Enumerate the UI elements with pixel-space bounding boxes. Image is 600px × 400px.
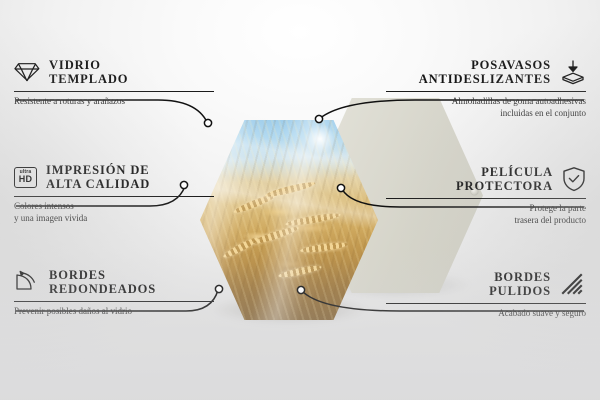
- feature-divider: [386, 198, 586, 199]
- ultra-hd-icon: ultra HD: [14, 167, 37, 188]
- feature-header: PELÍCULA PROTECTORA: [386, 165, 586, 193]
- press-pad-icon: [560, 59, 586, 85]
- feature-divider: [14, 91, 214, 92]
- feature-bordes-pulidos: BORDES PULIDOS Acabado suave y seguro: [386, 270, 586, 320]
- feature-bordes-redondeados: BORDES REDONDEADOS Prevenir posibles dañ…: [14, 268, 214, 318]
- feature-subtitle: Almohadillas de goma autoadhesivas inclu…: [386, 96, 586, 119]
- diagonal-hatch-icon: [560, 272, 586, 296]
- feature-impresion-alta-calidad: ultra HD IMPRESIÓN DE ALTA CALIDAD Color…: [14, 163, 214, 224]
- feature-divider: [14, 196, 214, 197]
- feature-posavasos-antideslizantes: POSAVASOS ANTIDESLIZANTES Almohadillas d…: [386, 58, 586, 119]
- feature-subtitle: Protege la parte trasera del producto: [386, 203, 586, 226]
- feature-header: BORDES PULIDOS: [386, 270, 586, 298]
- ultra-hd-icon-hd-text: HD: [19, 175, 33, 184]
- feature-subtitle: Acabado suave y seguro: [386, 308, 586, 320]
- feature-header: POSAVASOS ANTIDESLIZANTES: [386, 58, 586, 86]
- feature-title: IMPRESIÓN DE ALTA CALIDAD: [46, 163, 150, 191]
- feature-pelicula-protectora: PELÍCULA PROTECTORA Protege la parte tra…: [386, 165, 586, 226]
- feature-divider: [386, 91, 586, 92]
- feature-title: POSAVASOS ANTIDESLIZANTES: [419, 58, 551, 86]
- feature-divider: [386, 303, 586, 304]
- feature-divider: [14, 301, 214, 302]
- feature-header: BORDES REDONDEADOS: [14, 268, 214, 296]
- feature-vidrio-templado: VIDRIO TEMPLADO Resistente a roturas y a…: [14, 58, 214, 108]
- feature-subtitle: Colores intensos y una imagen vivida: [14, 201, 214, 224]
- feature-title: PELÍCULA PROTECTORA: [456, 165, 553, 193]
- feature-title: VIDRIO TEMPLADO: [49, 58, 128, 86]
- shield-check-icon: [562, 166, 586, 192]
- feature-header: VIDRIO TEMPLADO: [14, 58, 214, 86]
- feature-title: BORDES REDONDEADOS: [49, 268, 156, 296]
- rounded-corner-icon: [14, 270, 40, 294]
- feature-subtitle: Prevenir posibles daños al vidrio: [14, 306, 214, 318]
- feature-header: ultra HD IMPRESIÓN DE ALTA CALIDAD: [14, 163, 214, 191]
- infographic-canvas: VIDRIO TEMPLADO Resistente a roturas y a…: [0, 0, 600, 400]
- feature-title: BORDES PULIDOS: [489, 270, 551, 298]
- glass-glare-highlight: [303, 124, 337, 154]
- diamond-icon: [14, 60, 40, 84]
- feature-subtitle: Resistente a roturas y arañazos: [14, 96, 214, 108]
